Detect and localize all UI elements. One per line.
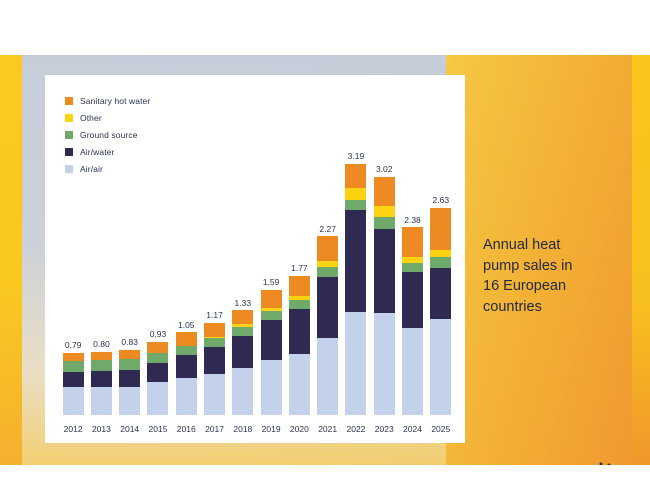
stacked-bar[interactable] bbox=[204, 323, 225, 415]
slide-title-line-3: 16 European bbox=[483, 276, 628, 297]
bar-segment-air-water[interactable] bbox=[289, 309, 310, 354]
bar-segment-air-air[interactable] bbox=[63, 387, 84, 415]
bar-segment-other[interactable] bbox=[345, 188, 366, 200]
x-axis-tick-2024: 2024 bbox=[398, 424, 426, 434]
bar-value-label: 1.33 bbox=[235, 299, 252, 308]
bar-segment-sanitary-hot-water[interactable] bbox=[232, 310, 253, 324]
bar-segment-ground-source[interactable] bbox=[176, 346, 197, 355]
bar-column[interactable]: 3.19 bbox=[342, 131, 370, 415]
presentation-slide: Sanitary hot waterOtherGround sourceAir/… bbox=[0, 55, 650, 465]
bar-segment-air-water[interactable] bbox=[317, 277, 338, 338]
bar-column[interactable]: 0.83 bbox=[116, 131, 144, 415]
bar-column[interactable]: 1.59 bbox=[257, 131, 285, 415]
bar-value-label: 0.83 bbox=[121, 338, 138, 347]
bar-value-label: 2.27 bbox=[319, 225, 336, 234]
bar-segment-ground-source[interactable] bbox=[119, 359, 140, 369]
slide-title-line-4: countries bbox=[483, 297, 628, 318]
bar-value-label: 1.59 bbox=[263, 278, 280, 287]
bar-value-label: 2.63 bbox=[433, 196, 450, 205]
bar-segment-air-air[interactable] bbox=[91, 387, 112, 415]
bar-value-label: 2.38 bbox=[404, 216, 421, 225]
ehpa-logo: ehpa bbox=[500, 460, 625, 465]
bar-segment-air-water[interactable] bbox=[204, 347, 225, 374]
bar-segment-ground-source[interactable] bbox=[261, 311, 282, 320]
x-axis-tick-2019: 2019 bbox=[257, 424, 285, 434]
stacked-bar[interactable] bbox=[147, 342, 168, 415]
bar-column[interactable]: 1.33 bbox=[229, 131, 257, 415]
bar-segment-air-water[interactable] bbox=[374, 229, 395, 313]
bar-column[interactable]: 0.93 bbox=[144, 131, 172, 415]
bar-value-label: 0.79 bbox=[65, 341, 82, 350]
bar-segment-sanitary-hot-water[interactable] bbox=[91, 352, 112, 360]
bar-segment-ground-source[interactable] bbox=[289, 300, 310, 309]
stacked-bar[interactable] bbox=[119, 350, 140, 415]
bar-value-label: 0.80 bbox=[93, 340, 110, 349]
bar-segment-air-water[interactable] bbox=[261, 320, 282, 359]
stacked-bar[interactable] bbox=[289, 276, 310, 415]
bar-column[interactable]: 2.63 bbox=[427, 131, 455, 415]
bar-segment-ground-source[interactable] bbox=[402, 263, 423, 273]
stacked-bar[interactable] bbox=[345, 164, 366, 415]
bar-segment-air-air[interactable] bbox=[402, 328, 423, 415]
stacked-bar[interactable] bbox=[176, 332, 197, 415]
bar-segment-ground-source[interactable] bbox=[204, 338, 225, 347]
bar-segment-air-water[interactable] bbox=[119, 370, 140, 387]
x-axis-tick-2018: 2018 bbox=[229, 424, 257, 434]
bar-segment-air-air[interactable] bbox=[261, 360, 282, 415]
bar-segment-air-water[interactable] bbox=[176, 355, 197, 378]
bar-segment-air-air[interactable] bbox=[374, 313, 395, 415]
bar-segment-air-air[interactable] bbox=[317, 338, 338, 415]
bar-segment-ground-source[interactable] bbox=[345, 200, 366, 210]
stacked-bar[interactable] bbox=[374, 177, 395, 415]
bar-segment-air-air[interactable] bbox=[176, 378, 197, 415]
x-axis-tick-2023: 2023 bbox=[370, 424, 398, 434]
bar-segment-sanitary-hot-water[interactable] bbox=[63, 353, 84, 361]
bar-segment-sanitary-hot-water[interactable] bbox=[374, 177, 395, 206]
stacked-bar[interactable] bbox=[261, 290, 282, 415]
x-axis-tick-2017: 2017 bbox=[200, 424, 228, 434]
bar-segment-ground-source[interactable] bbox=[91, 360, 112, 371]
x-axis-tick-2020: 2020 bbox=[285, 424, 313, 434]
bar-column[interactable]: 1.05 bbox=[172, 131, 200, 415]
bar-segment-air-air[interactable] bbox=[289, 354, 310, 415]
bar-segment-air-water[interactable] bbox=[232, 336, 253, 368]
bar-value-label: 1.17 bbox=[206, 311, 223, 320]
bar-segment-ground-source[interactable] bbox=[63, 361, 84, 372]
bar-column[interactable]: 2.27 bbox=[314, 131, 342, 415]
x-axis-tick-2012: 2012 bbox=[59, 424, 87, 434]
eu-stars-icon bbox=[591, 463, 620, 466]
x-axis-tick-2022: 2022 bbox=[342, 424, 370, 434]
bar-group: 0.790.800.830.931.051.171.331.591.772.27… bbox=[59, 131, 455, 415]
stacked-bar[interactable] bbox=[402, 227, 423, 415]
bar-column[interactable]: 0.80 bbox=[87, 131, 115, 415]
bar-column[interactable]: 1.77 bbox=[285, 131, 313, 415]
x-axis-tick-2016: 2016 bbox=[172, 424, 200, 434]
bar-segment-ground-source[interactable] bbox=[232, 327, 253, 336]
bar-segment-air-water[interactable] bbox=[63, 372, 84, 387]
x-axis-tick-2013: 2013 bbox=[87, 424, 115, 434]
bar-segment-air-water[interactable] bbox=[91, 371, 112, 387]
bar-segment-sanitary-hot-water[interactable] bbox=[119, 350, 140, 360]
slide-canvas: Sanitary hot waterOtherGround sourceAir/… bbox=[0, 0, 650, 500]
bar-column[interactable]: 0.79 bbox=[59, 131, 87, 415]
bar-segment-air-air[interactable] bbox=[430, 319, 451, 415]
bar-value-label: 1.77 bbox=[291, 264, 308, 273]
bar-segment-air-water[interactable] bbox=[402, 272, 423, 327]
stacked-bar[interactable] bbox=[91, 352, 112, 415]
slide-title-line-2: pump sales in bbox=[483, 256, 628, 277]
bar-segment-sanitary-hot-water[interactable] bbox=[317, 236, 338, 261]
x-axis-tick-2014: 2014 bbox=[116, 424, 144, 434]
bar-segment-other[interactable] bbox=[374, 206, 395, 217]
bar-segment-ground-source[interactable] bbox=[147, 353, 168, 363]
bar-segment-sanitary-hot-water[interactable] bbox=[261, 290, 282, 308]
stacked-bar[interactable] bbox=[63, 353, 84, 415]
bar-segment-ground-source[interactable] bbox=[317, 267, 338, 277]
bar-segment-sanitary-hot-water[interactable] bbox=[430, 208, 451, 250]
bar-value-label: 0.93 bbox=[150, 330, 167, 339]
stacked-bar[interactable] bbox=[232, 310, 253, 415]
bar-segment-air-air[interactable] bbox=[232, 368, 253, 415]
bar-column[interactable]: 3.02 bbox=[370, 131, 398, 415]
bar-segment-sanitary-hot-water[interactable] bbox=[147, 342, 168, 353]
bar-segment-ground-source[interactable] bbox=[430, 257, 451, 268]
slide-left-accent-band bbox=[0, 55, 22, 465]
x-axis-tick-2015: 2015 bbox=[144, 424, 172, 434]
chart-card: Sanitary hot waterOtherGround sourceAir/… bbox=[45, 75, 465, 443]
bar-segment-air-air[interactable] bbox=[119, 387, 140, 415]
bar-segment-air-air[interactable] bbox=[345, 312, 366, 415]
bar-column[interactable]: 1.17 bbox=[200, 131, 228, 415]
slide-title: Annual heat pump sales in 16 European co… bbox=[483, 235, 628, 317]
bar-segment-sanitary-hot-water[interactable] bbox=[176, 332, 197, 345]
bar-segment-sanitary-hot-water[interactable] bbox=[289, 276, 310, 297]
bar-segment-other[interactable] bbox=[430, 250, 451, 257]
bar-column[interactable]: 2.38 bbox=[398, 131, 426, 415]
stacked-bar[interactable] bbox=[317, 236, 338, 415]
bar-segment-air-water[interactable] bbox=[430, 268, 451, 318]
bar-segment-air-air[interactable] bbox=[204, 374, 225, 415]
x-axis-tick-2025: 2025 bbox=[427, 424, 455, 434]
chart-plot-area: 0.790.800.830.931.051.171.331.591.772.27… bbox=[53, 85, 459, 443]
stacked-bar[interactable] bbox=[430, 208, 451, 415]
bar-segment-air-air[interactable] bbox=[147, 382, 168, 415]
slide-right-accent-band bbox=[632, 55, 650, 465]
bar-segment-sanitary-hot-water[interactable] bbox=[204, 323, 225, 337]
x-axis-tick-labels: 2012201320142015201620172018201920202021… bbox=[59, 421, 455, 437]
bar-segment-ground-source[interactable] bbox=[374, 217, 395, 229]
bar-value-label: 3.19 bbox=[348, 152, 365, 161]
bar-segment-sanitary-hot-water[interactable] bbox=[402, 227, 423, 256]
bar-value-label: 3.02 bbox=[376, 165, 393, 174]
bar-segment-air-water[interactable] bbox=[345, 210, 366, 312]
x-axis-tick-2021: 2021 bbox=[314, 424, 342, 434]
slide-title-line-1: Annual heat bbox=[483, 235, 628, 256]
bar-segment-air-water[interactable] bbox=[147, 363, 168, 383]
bar-value-label: 1.05 bbox=[178, 321, 195, 330]
bar-segment-sanitary-hot-water[interactable] bbox=[345, 164, 366, 188]
